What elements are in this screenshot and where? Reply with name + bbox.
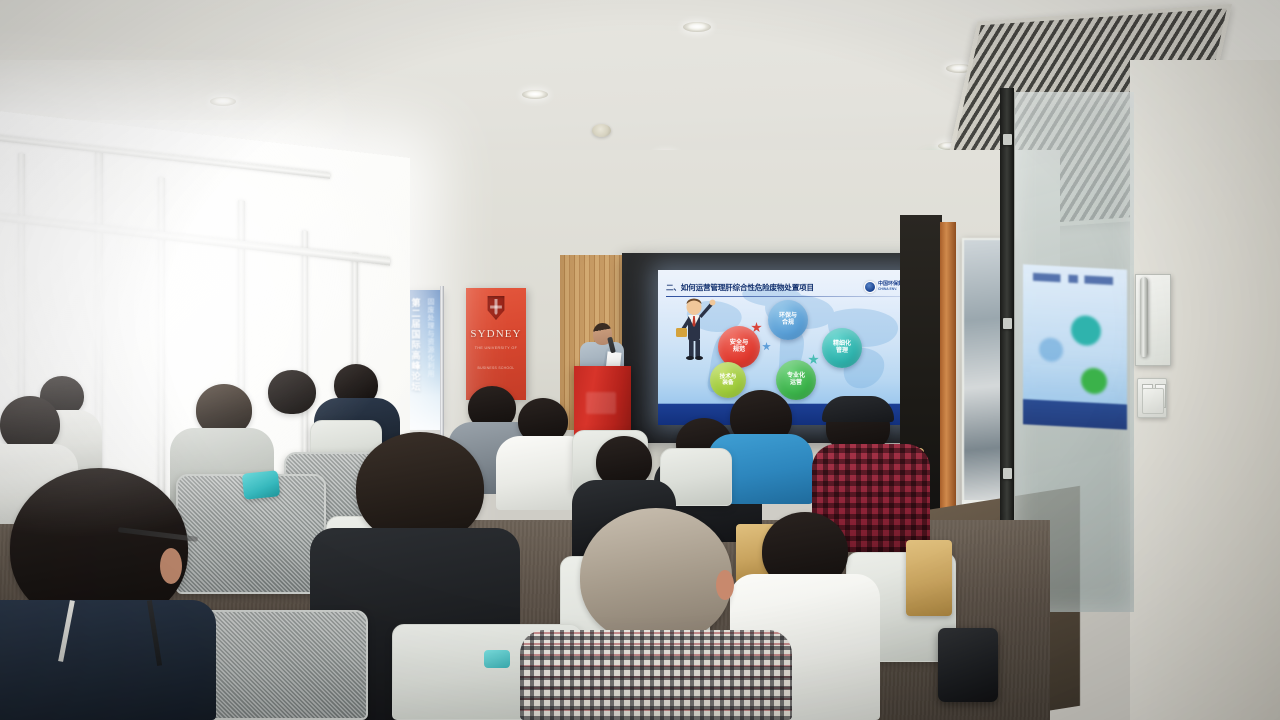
bubble-blue-label: 环保与 合规	[779, 313, 797, 326]
attendee-grey-plaid-ear	[716, 570, 734, 600]
usyd-sub-text: THE UNIVERSITY OF	[466, 346, 526, 350]
conference-room-photo: 二、如何运营管理肝综合性危险废物处置项目 中国环保集团 CHINA ENV.	[0, 0, 1280, 720]
slide-reflection	[1023, 264, 1127, 429]
window-mullion-horizontal	[0, 212, 390, 266]
bubble-teal-label: 精细化 管理	[833, 341, 851, 354]
bubble-green-label: 专业化 运营	[787, 373, 805, 386]
recessed-downlight	[210, 97, 236, 106]
black-backpack	[938, 628, 998, 702]
reflection-logo	[1033, 273, 1113, 285]
attendee-foreground-left-ear	[160, 548, 182, 584]
smoke-detector-icon	[592, 124, 611, 137]
bubble-green: 专业化 运营	[776, 360, 816, 400]
bubble-lime-label: 技术与 装备	[720, 374, 737, 387]
door-pull-handle[interactable]	[1140, 277, 1148, 357]
attendee-grey-plaid-head	[580, 508, 732, 644]
door-hinge	[1003, 134, 1012, 145]
teal-item	[484, 650, 510, 668]
door-hinge	[1003, 468, 1012, 479]
reflection-bubble-blue	[1039, 337, 1063, 362]
bubble-red-label: 安全与 规范	[730, 340, 749, 354]
slide-title: 二、如何运营管理肝综合性危险废物处置项目	[666, 282, 814, 293]
power-socket	[1142, 388, 1164, 414]
door-hinge	[1003, 318, 1012, 329]
reflection-bubble-teal	[1071, 315, 1101, 347]
bubble-teal: 精细化 管理	[822, 328, 862, 368]
blue-banner-primary-text: 第二届国际高峰论坛	[410, 298, 423, 393]
usyd-footer-text: BUSINESS SCHOOL	[466, 366, 526, 370]
recessed-downlight	[683, 22, 711, 32]
blue-banner-secondary-text: 固废处理与资源化利用	[425, 298, 435, 378]
bubble-blue: 环保与 合规	[768, 300, 808, 340]
attendee-foreground-left-body	[0, 600, 216, 720]
attendee-grey-plaid-body	[520, 630, 792, 720]
university-of-sydney-banner: THE UNIVERSITY OF SYDNEY BUSINESS SCHOOL	[466, 288, 526, 400]
lectern-logo	[586, 392, 616, 414]
banner-pole	[440, 286, 444, 436]
baseball-cap-icon	[822, 396, 894, 422]
usyd-name-text: SYDNEY	[466, 328, 526, 340]
reflection-bubble-green	[1081, 367, 1107, 394]
cartoon-businessman-icon	[674, 296, 716, 360]
conference-chair[interactable]	[906, 540, 952, 616]
logo-mark-icon	[864, 281, 876, 293]
recessed-downlight	[522, 90, 548, 99]
teal-tote-bag	[242, 470, 281, 500]
slide-title-row: 二、如何运营管理肝综合性危险废物处置项目 中国环保集团 CHINA ENV.	[666, 279, 908, 295]
bubble-lime: 技术与 装备	[710, 362, 746, 398]
usyd-crest-icon	[486, 296, 506, 320]
wood-trim-doorway	[940, 222, 956, 522]
